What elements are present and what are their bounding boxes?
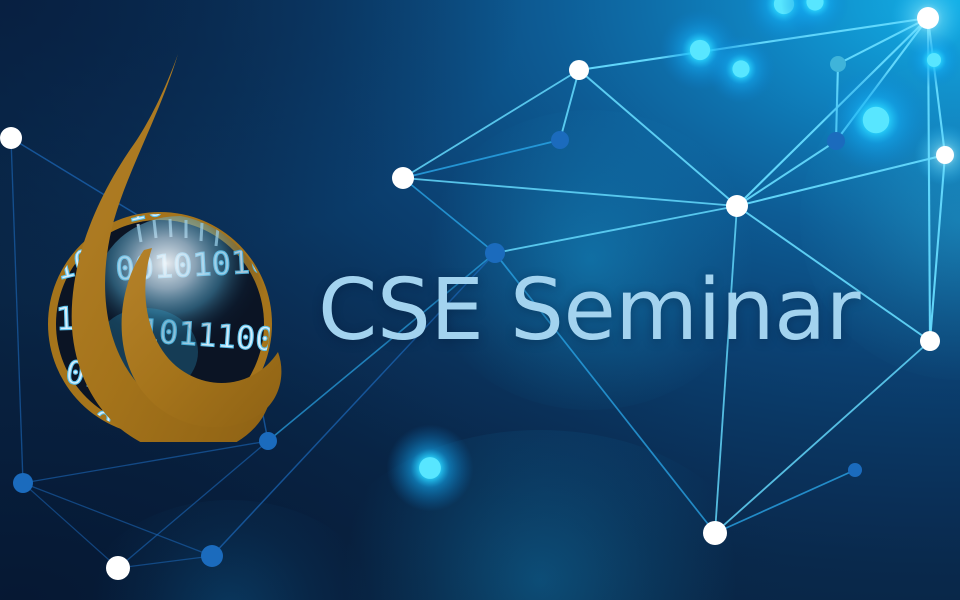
network-node [13, 473, 33, 493]
network-glow-dot-core [732, 60, 749, 77]
network-edge [23, 441, 268, 483]
network-node [485, 243, 505, 263]
network-edge [715, 341, 930, 533]
network-glow-dot-core [419, 457, 441, 479]
network-edge [118, 556, 212, 568]
network-node [830, 56, 846, 72]
network-edge [403, 178, 495, 253]
page-title: CSE Seminar [318, 268, 860, 353]
network-node [201, 545, 223, 567]
network-edge [737, 141, 836, 206]
network-node [848, 463, 862, 477]
network-glow-dot-core [690, 40, 710, 60]
network-node [392, 167, 414, 189]
network-edge [715, 470, 855, 533]
network-edge [403, 178, 737, 206]
network-node [106, 556, 130, 580]
network-node [920, 331, 940, 351]
network-glow-dots [387, 0, 960, 511]
network-edge [737, 155, 945, 206]
network-node [0, 127, 22, 149]
network-glow-dot-core [863, 107, 890, 134]
cse-seminar-banner: 1 1 10 10 010 010 01010 1010110 00101010… [0, 0, 960, 600]
network-edge [23, 483, 212, 556]
network-node [551, 131, 569, 149]
network-node [917, 7, 939, 29]
network-node [703, 521, 727, 545]
network-node [827, 132, 845, 150]
network-edge [403, 140, 560, 178]
network-node [569, 60, 589, 80]
network-edge [403, 70, 579, 178]
network-edge [579, 70, 737, 206]
network-edge [495, 206, 737, 253]
network-node [936, 146, 954, 164]
network-edge [11, 138, 23, 483]
network-edge [715, 206, 737, 533]
lehigh-cse-logo: 1 1 10 10 010 010 01010 1010110 00101010… [42, 52, 312, 442]
network-node [726, 195, 748, 217]
network-edge [23, 483, 118, 568]
